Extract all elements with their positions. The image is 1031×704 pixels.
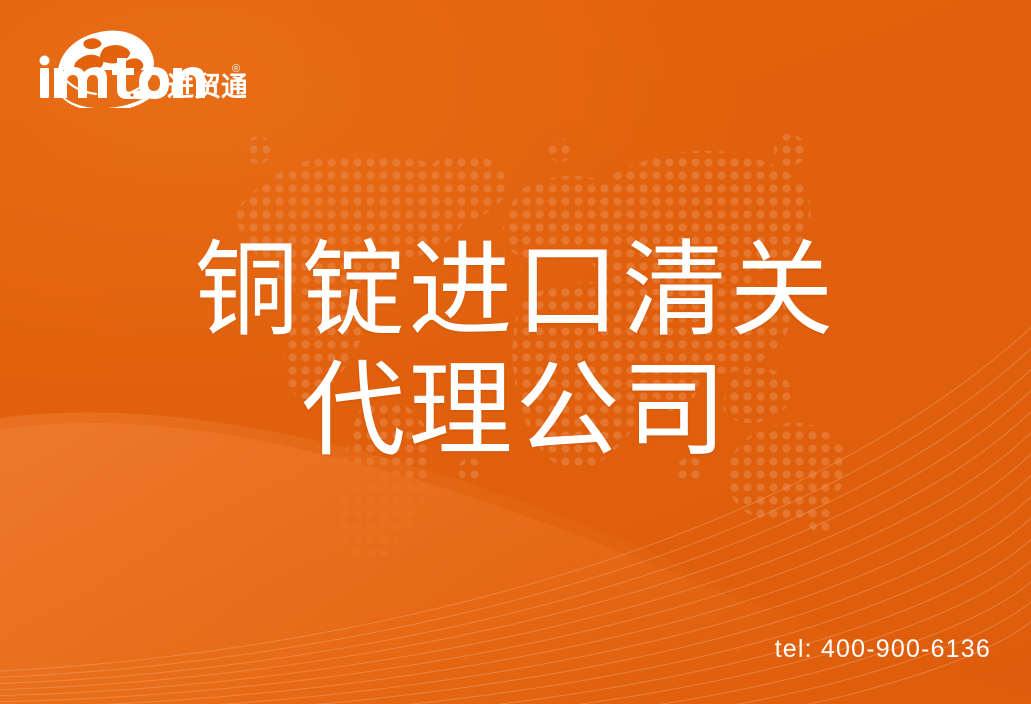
- promo-banner: 进贸通 ® 铜锭进口清关 代理公司 tel: 400-900-6136: [0, 0, 1031, 704]
- logo-chinese-name: 进贸通: [167, 72, 246, 102]
- contact-phone[interactable]: tel: 400-900-6136: [775, 634, 991, 664]
- headline-line-2: 代理公司: [0, 352, 1031, 470]
- page-title: 铜锭进口清关 代理公司: [0, 232, 1031, 470]
- company-logo[interactable]: 进贸通 ®: [36, 26, 246, 108]
- registered-mark: ®: [232, 63, 240, 75]
- headline-line-1: 铜锭进口清关: [0, 232, 1031, 350]
